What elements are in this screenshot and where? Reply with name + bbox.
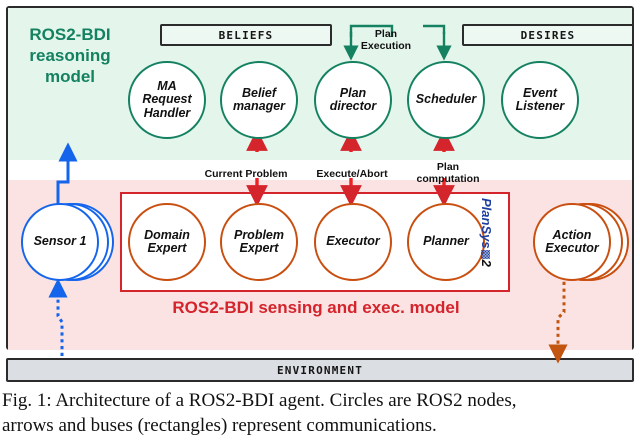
ma-request-handler-line-1: MA <box>157 79 176 93</box>
execute-abort-label: Execute/Abort <box>300 168 404 180</box>
environment-bar[interactable]: ENVIRONMENT <box>6 358 634 382</box>
plansys2-label: PlanSys2 <box>476 198 494 286</box>
event-listener-line-2: Listener <box>516 99 565 113</box>
beliefs-bus[interactable]: BELIEFS <box>160 24 332 46</box>
plan-execution-label-line-1: Plan <box>338 28 434 40</box>
sensing-model-title: ROS2-BDI sensing and exec. model <box>120 298 512 318</box>
node-action-executor[interactable]: Action Executor <box>533 203 611 281</box>
belief-manager-line-1: Belief <box>242 86 276 100</box>
plan-computation-label-line-2: computation <box>396 173 500 185</box>
planner-line-1: Planner <box>423 234 469 248</box>
node-event-listener[interactable]: Event Listener <box>501 61 579 139</box>
plansys2-label-number: 2 <box>479 260 494 267</box>
executor-line-1: Executor <box>326 234 380 248</box>
node-ma-request-handler[interactable]: MA Request Handler <box>128 61 206 139</box>
plan-execution-label: Plan Execution <box>338 28 434 52</box>
plansys2-label-text: PlanSys <box>479 198 494 249</box>
node-executor[interactable]: Executor <box>314 203 392 281</box>
domain-expert-line-2: Expert <box>148 241 187 255</box>
figure-caption-line-2: arrows and buses (rectangles) represent … <box>2 413 640 438</box>
reasoning-title-line-3: model <box>14 66 126 87</box>
plan-execution-label-line-2: Execution <box>338 40 434 52</box>
reasoning-title-line-2: reasoning <box>14 45 126 66</box>
node-belief-manager[interactable]: Belief manager <box>220 61 298 139</box>
sensor-1-line-1: Sensor 1 <box>34 234 87 248</box>
figure-caption: Fig. 1: Architecture of a ROS2-BDI agent… <box>2 388 640 438</box>
dot-grid-icon <box>481 250 490 259</box>
plan-computation-label-line-1: Plan <box>396 161 500 173</box>
reasoning-model-title: ROS2-BDI reasoning model <box>14 24 126 87</box>
event-listener-line-1: Event <box>523 86 557 100</box>
node-domain-expert[interactable]: Domain Expert <box>128 203 206 281</box>
figure-caption-line-1: Fig. 1: Architecture of a ROS2-BDI agent… <box>2 388 640 413</box>
node-plan-director[interactable]: Plan director <box>314 61 392 139</box>
node-problem-expert[interactable]: Problem Expert <box>220 203 298 281</box>
action-executor-line-2: Executor <box>545 241 599 255</box>
domain-expert-line-1: Domain <box>144 228 190 242</box>
node-planner[interactable]: Planner <box>407 203 485 281</box>
plan-computation-label: Plan computation <box>396 161 500 185</box>
ma-request-handler-line-3: Handler <box>144 106 191 120</box>
belief-manager-line-2: manager <box>233 99 285 113</box>
scheduler-line-1: Scheduler <box>416 92 476 106</box>
desires-bus[interactable]: DESIRES <box>462 24 634 46</box>
node-scheduler[interactable]: Scheduler <box>407 61 485 139</box>
ma-request-handler-line-2: Request <box>142 92 191 106</box>
plan-director-line-2: director <box>330 99 377 113</box>
current-problem-label: Current Problem <box>186 168 306 180</box>
action-executor-line-1: Action <box>553 228 592 242</box>
problem-expert-line-1: Problem <box>234 228 284 242</box>
figure-architecture-ros2-bdi: ROS2-BDI reasoning model BELIEFS DESIRES… <box>0 0 640 442</box>
node-sensor-1[interactable]: Sensor 1 <box>21 203 99 281</box>
plan-director-line-1: Plan <box>340 86 366 100</box>
reasoning-title-line-1: ROS2-BDI <box>14 24 126 45</box>
problem-expert-line-2: Expert <box>240 241 279 255</box>
